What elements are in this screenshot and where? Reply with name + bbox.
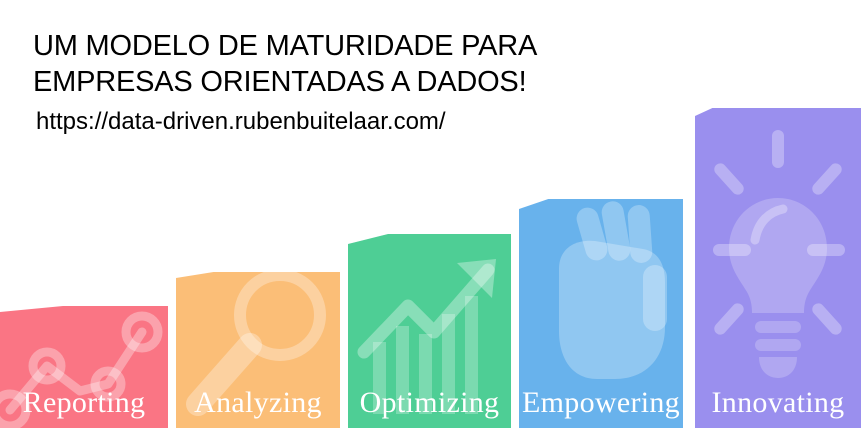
stage-column-empowering[interactable]: Empowering	[519, 199, 683, 428]
stage-label-empowering: Empowering	[519, 386, 683, 420]
maturity-model-infographic: Reporting Analyzing	[0, 0, 861, 428]
stage-column-analyzing[interactable]: Analyzing	[176, 272, 340, 428]
header-block: UM MODELO DE MATURIDADE PARA EMPRESAS OR…	[33, 28, 537, 138]
source-url[interactable]: https://data-driven.rubenbuitelaar.com/	[36, 106, 537, 138]
stage-column-reporting[interactable]: Reporting	[0, 306, 168, 428]
stage-column-optimizing[interactable]: Optimizing	[348, 234, 511, 428]
page-title-line-2: EMPRESAS ORIENTADAS A DADOS!	[33, 64, 537, 100]
innovating-bar-shape	[695, 108, 861, 428]
stage-label-optimizing: Optimizing	[348, 386, 511, 420]
stage-label-innovating: Innovating	[695, 386, 861, 420]
page-title-line-1: UM MODELO DE MATURIDADE PARA	[33, 28, 537, 64]
stage-column-innovating[interactable]: Innovating	[695, 108, 861, 428]
stage-label-reporting: Reporting	[0, 386, 168, 420]
stage-label-analyzing: Analyzing	[176, 386, 340, 420]
